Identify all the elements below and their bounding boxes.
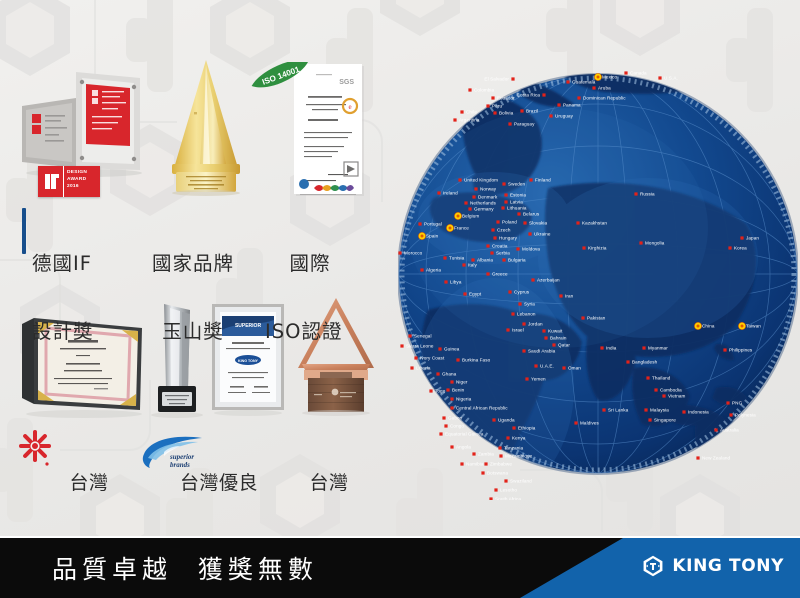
country-label: Saudi Arabia [528,349,556,354]
award-image-if-design-plaques [14,58,154,178]
country-marker-icon [474,187,477,190]
king-tony-wordmark: KING TONY [672,556,784,576]
country-marker: United Kingdom [458,178,498,183]
country-marker-icon [450,406,453,409]
country-marker-icon [490,251,493,254]
country-label: Cambodia [660,388,682,393]
country-label: Colombia [474,88,495,93]
country-label: Uruguay [555,114,574,119]
country-label: Latvia [510,200,523,205]
country-marker-icon [522,322,525,325]
country-marker: Angola [450,445,471,450]
country-marker-icon [472,195,475,198]
country-label: Taiwan [746,324,761,329]
country-label: Norway [480,187,497,192]
country-marker-icon [444,280,447,283]
country-marker-icon [523,221,526,224]
country-label: Australia [720,428,739,433]
country-label: Ivory Coast [420,356,445,361]
country-label: Greece [492,272,508,277]
country-marker-icon [464,201,467,204]
country-label: Zimbabwe [490,462,512,467]
country-marker-icon [696,456,699,459]
country-marker-icon [682,410,685,413]
country-label: Guatemala [572,80,596,85]
country-label: India [606,346,617,351]
country-label: Mongolia [645,241,665,246]
country-marker-icon [471,258,474,261]
country-marker-icon [494,488,497,491]
country-label: Syria [524,302,535,307]
country-marker-icon [453,118,456,121]
country-marker-icon [522,349,525,352]
country-label: Kirghizia [588,246,607,251]
award-label-line1: 台灣 [272,472,386,494]
if-badge-text: DESIGN AWARD 2016 [64,166,100,197]
country-label: Serbia [496,251,510,256]
country-marker: Canada [624,71,647,76]
country-label: Ghana [442,372,457,377]
country-marker-icon [644,408,647,411]
country-marker: South Africa [489,497,521,500]
country-marker-icon [728,246,731,249]
country-marker-icon [504,200,507,203]
country-marker-icon [462,263,465,266]
country-label: Canada [630,71,647,76]
country-marker-icon [518,302,521,305]
country-label: Singapore [654,418,676,423]
country-label: Sierra Leone [406,344,434,349]
country-label: Bulgaria [508,258,526,263]
country-label: Qatar [558,343,570,348]
country-label: Morocco [404,251,423,256]
country-label: Tanzania [504,446,524,451]
country-marker: Burkina Faso [456,358,490,363]
country-marker-icon [562,366,565,369]
country-marker-icon [446,388,449,391]
award-label-line2: 設計獎 [32,321,94,344]
country-marker: Congo [444,424,464,429]
country-label: Tunisia [449,256,465,261]
country-label: United Kingdom [464,178,498,183]
country-marker-icon [726,401,729,404]
taiwan-excellence-logo [16,426,54,470]
country-label: Mozambique [505,454,533,459]
banner-headline: 品質卓越 獲獎無數 [52,550,318,586]
country-marker-icon [642,346,645,349]
country-label: Croatia [492,244,508,249]
country-label: Czech [497,228,511,233]
award-label-line2: 玉山獎 [152,321,234,344]
country-label: Guinea [444,347,460,352]
country-label: Ecuador [497,96,515,101]
country-label: Poland [502,220,517,225]
country-label: Costa Rica [517,93,541,98]
country-marker-icon [398,251,401,254]
award-label-line2: ISO認證 [265,321,355,344]
country-label: Zambia [478,452,494,457]
country-marker-icon [512,426,515,429]
country-marker-icon [626,360,629,363]
country-marker: Namibia [460,462,483,467]
country-label: Oman [568,366,581,371]
country-marker: Sierra Leone [400,344,433,349]
country-marker-icon [511,77,514,80]
country-label: Gabon [448,416,463,421]
country-label: Senegal [414,334,432,339]
country-marker-icon [559,294,562,297]
country-label: Mexico [602,75,617,80]
bottom-banner: 品質卓越 獲獎無數 KING TONY [0,536,800,598]
country-marker-icon [582,246,585,249]
country-label: Russia [640,192,655,197]
country-label: Liberia [416,366,431,371]
country-marker-icon [472,452,475,455]
country-label: U.S.A. [664,76,678,81]
country-label: New Zealand [702,456,731,461]
country-marker: China [694,322,714,329]
country-label: Slovakia [529,221,548,226]
country-marker-icon [506,436,509,439]
country-marker-icon [557,103,560,106]
award-image-yushan-trophy [160,56,252,196]
country-marker-icon [502,258,505,261]
country-label: Moldova [522,247,540,252]
country-marker-icon [486,244,489,247]
country-marker-icon [600,346,603,349]
country-marker: Dominican Republic [577,96,626,101]
country-marker-icon [498,446,501,449]
country-marker: Lesotho [494,488,517,493]
country-marker: Taiwan [738,322,761,329]
country-label: Bolivia [499,111,514,116]
award-label-line1: 台灣 [58,472,120,494]
country-marker: U.S.A. [658,76,677,81]
country-marker-icon [489,497,492,500]
if-badge-line1: DESIGN [67,170,100,177]
country-marker: Mozambique [499,454,532,459]
country-marker-icon [501,206,504,209]
country-marker-icon [740,236,743,239]
country-label: Swaziland [510,479,532,484]
country-marker-icon [450,397,453,400]
country-marker: Gabon [442,416,462,421]
country-label: Belgium [462,214,479,219]
country-label: Congo [450,424,464,429]
country-marker-icon [460,110,463,113]
world-globe: El SalvadorCosta RicaGuatemalaMexicoCana… [398,48,798,500]
country-marker-icon [463,292,466,295]
country-marker: France [446,224,469,231]
country-marker-icon [400,344,403,347]
country-marker-icon [542,93,545,96]
country-marker-icon [504,479,507,482]
country-marker-icon [511,312,514,315]
country-marker-icon [531,278,534,281]
country-marker-icon [552,343,555,346]
country-label: Kenya [512,436,526,441]
country-marker: Mexico [594,73,617,80]
country-marker-icon [534,364,537,367]
country-label: Portugal [424,222,442,227]
country-marker: Togo [429,389,445,394]
award-label-if-design: 德國IF 設計獎 [32,208,94,366]
country-marker-icon [549,114,552,117]
country-label: Indonesia [688,410,709,415]
country-marker-icon [658,76,661,79]
country-marker-icon [520,109,523,112]
country-marker: Spain [418,232,438,239]
country-label: France [454,226,469,231]
award-label-line1: 德國IF [32,253,94,276]
country-label: Yemen [531,377,546,382]
country-label: Paraguay [514,122,535,127]
country-marker-icon [460,462,463,465]
country-label: Lithuania [507,206,527,211]
country-marker-icon [729,413,732,416]
country-label: PNG [732,401,743,406]
country-marker-icon [443,256,446,259]
country-label: Iran [565,294,574,299]
country-marker-icon [450,445,453,448]
country-label: Egypt [469,292,482,297]
country-label: Korea [734,246,747,251]
globe-graphic: El SalvadorCosta RicaGuatemalaMexicoCana… [398,48,798,500]
country-marker: Colombia [468,88,494,93]
country-marker-icon [576,221,579,224]
country-label: Bahrain [550,336,567,341]
country-marker-icon [654,388,657,391]
country-marker-icon [420,268,423,271]
country-label: Uganda [498,418,515,423]
country-label: Namibia [466,462,484,467]
country-label: El Salvador [484,77,509,82]
country-label: Libya [450,280,462,285]
country-marker: Botswana [481,471,508,476]
award-label-line1: 台灣優良 [180,472,258,494]
country-label: Nigeria [456,397,472,402]
country-label: Cyprus [514,290,530,295]
country-label: Botswana [487,471,508,476]
country-marker-icon [508,122,511,125]
if-design-award-badge: DESIGN AWARD 2016 [38,166,100,197]
country-marker-icon [438,347,441,350]
country-marker-icon [574,421,577,424]
country-marker-icon [499,454,502,457]
country-label: Hungary [499,236,518,241]
country-label: Argentina [459,118,480,123]
country-marker: Belgium [454,212,479,219]
country-marker-icon [493,236,496,239]
country-marker-icon [456,358,459,361]
country-marker-icon [525,377,528,380]
country-marker-icon [602,408,605,411]
king-tony-logo: KING TONY [641,554,784,578]
country-label: Belarus [523,212,540,217]
country-marker-icon [491,228,494,231]
country-label: Brazil [526,109,538,114]
country-label: Pakistan [587,316,606,321]
country-marker-icon [468,207,471,210]
country-marker-icon [504,193,507,196]
country-label: Aruba [598,86,611,91]
country-marker: Saudi Arabia [522,349,555,354]
country-label: Central African Republic [456,406,508,411]
country-label: Sweden [508,182,526,187]
country-marker-icon [714,428,717,431]
country-label: Burkina Faso [462,358,491,363]
country-marker: Zambia [472,452,494,457]
country-marker: Central African Republic [450,406,508,411]
country-marker-icon [581,316,584,319]
country-label: Estonia [510,193,526,198]
country-label: Vietnam [668,394,686,399]
country-marker-icon [648,418,651,421]
country-marker-icon [486,272,489,275]
country-label: Japan [746,236,759,241]
country-marker-icon [542,329,545,332]
country-marker-icon [544,336,547,339]
country-marker-icon [516,247,519,250]
if-badge-line2: AWARD [67,177,100,184]
country-marker-icon [468,88,471,91]
country-label: Lesotho [500,488,517,493]
country-marker-icon [639,241,642,244]
country-marker-icon [624,71,627,74]
country-label: Lebanon [517,312,536,317]
country-label: Ukraine [534,232,551,237]
country-marker: Equatorial Guinea [439,432,483,437]
country-marker: Liberia [410,366,430,371]
king-tony-emblem-icon [641,554,665,578]
country-marker-icon [442,416,445,419]
country-marker: El Salvador [484,77,514,82]
country-marker: Bangladesh [626,360,657,365]
country-marker-icon [458,178,461,181]
country-label: Israel [512,328,524,333]
country-marker-icon [646,376,649,379]
country-label: Peru [492,104,502,109]
country-marker: Ecuador [491,96,515,101]
country-label: Polynesia [735,413,756,418]
country-marker-icon [444,424,447,427]
country-marker-icon [414,356,417,359]
country-marker-icon [492,418,495,421]
country-marker-icon [436,372,439,375]
country-marker-icon [439,432,442,435]
award-label-iso: 國際 ISO認證 [265,208,355,366]
country-label: Niger [456,380,468,385]
country-marker-icon [486,104,489,107]
country-marker: Argentina [453,118,480,123]
country-label: Angola [456,445,471,450]
country-marker-icon [529,178,532,181]
country-label: South Africa [495,497,521,500]
svg-text:KING TONY: KING TONY [238,359,259,363]
label-accent-bar [22,208,26,254]
country-label: U.A.E. [540,364,554,369]
country-marker: New Zealand [696,456,730,461]
if-logo-mark [38,166,64,197]
country-marker-icon [481,471,484,474]
svg-text:e: e [348,103,351,111]
country-label: Azerbaijan [537,278,560,283]
country-marker-icon [429,389,432,392]
country-label: Philippines [729,348,753,353]
country-marker-icon [410,366,413,369]
country-marker-icon [566,80,569,83]
country-marker-icon [508,290,511,293]
country-label: Thailand [652,376,671,381]
country-marker-icon [491,96,494,99]
country-label: Algeria [426,268,441,273]
country-marker: Chile [460,110,477,115]
country-label: Panama [563,103,581,108]
country-marker-icon [408,334,411,337]
country-marker-icon [662,394,665,397]
country-marker: Swaziland [504,479,532,484]
country-label: Togo [435,389,446,394]
country-marker: Netherlands [464,201,496,206]
country-label: Germany [474,207,494,212]
country-label: Denmark [478,195,498,200]
country-label: Sri Lanka [608,408,629,413]
banner-divider [0,536,800,538]
country-label: Netherlands [470,201,496,206]
country-label: Jordan [528,322,543,327]
country-label: Malaysia [650,408,669,413]
country-marker-icon [528,232,531,235]
award-label-line1: 國家品牌 [152,253,234,276]
country-marker-icon [496,220,499,223]
country-marker-icon [450,380,453,383]
country-marker-icon [502,182,505,185]
country-label: Albania [477,258,493,263]
award-label-yushan: 國家品牌 玉山獎 [152,208,234,366]
sgs-certificate-logo: SGS [339,79,354,86]
country-marker-icon [506,328,509,331]
country-marker: Zimbabwe [484,462,512,467]
country-label: Chile [466,110,477,115]
country-marker-icon [723,348,726,351]
country-label: Maldives [580,421,600,426]
country-label: Finland [535,178,551,183]
country-marker-icon [493,111,496,114]
country-label: Equatorial Guinea [445,432,484,437]
country-label: Spain [426,234,439,239]
country-marker-icon [577,96,580,99]
award-label-line1: 國際 [265,253,355,276]
country-marker-icon [437,191,440,194]
country-label: China [702,324,715,329]
country-label: Kuwait [548,329,563,334]
country-label: Benin [452,388,465,393]
country-marker-icon [592,86,595,89]
country-label: Kazakhstan [582,221,607,226]
if-badge-line3: 2016 [67,184,100,191]
country-label: Dominican Republic [583,96,626,101]
award-image-iso-certificate: SGS e ISO 14001 [250,62,370,202]
country-label: Italy [468,263,478,268]
svg-text:SUPERIOR: SUPERIOR [235,323,262,329]
country-label: Myanmar [648,346,668,351]
country-label: Ireland [443,191,458,196]
country-marker-icon [517,212,520,215]
country-marker-icon [484,462,487,465]
country-label: Ethiopia [518,426,536,431]
country-marker-icon [634,192,637,195]
country-marker-icon [418,222,421,225]
